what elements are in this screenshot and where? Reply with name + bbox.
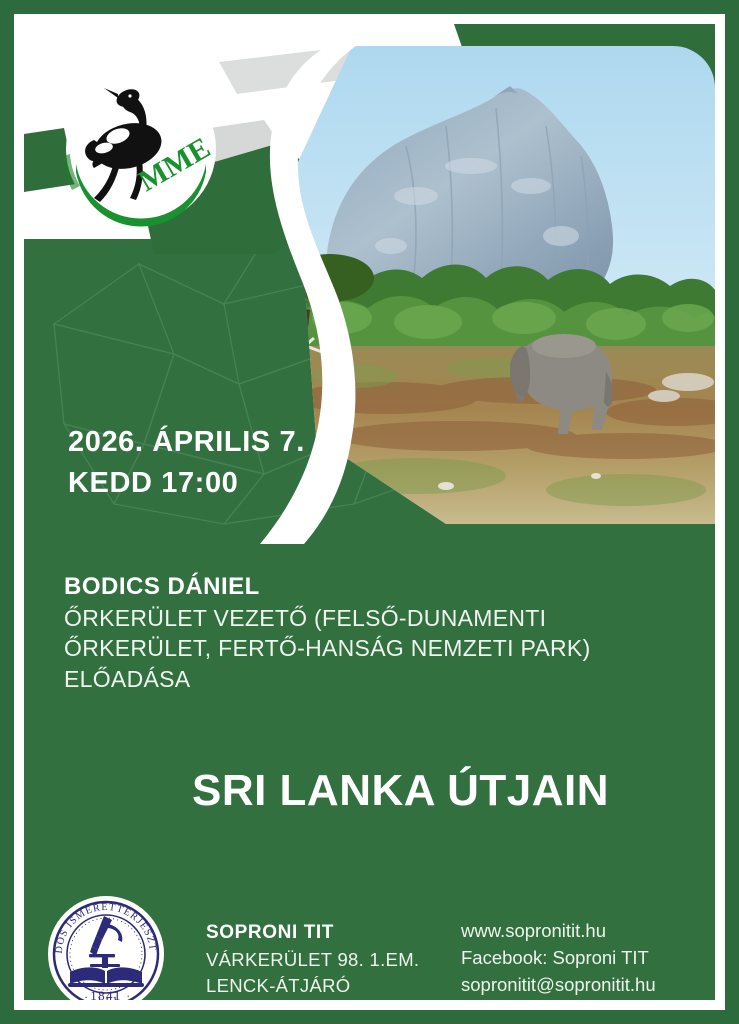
speaker-role-line3: ELŐADÁSA — [64, 664, 715, 695]
event-date-line1: 2026. ÁPRILIS 7. — [68, 422, 305, 463]
speaker-role-line1: ŐRKERÜLET VEZETŐ (FELSŐ-DUNAMENTI — [64, 603, 715, 634]
speaker-role: ŐRKERÜLET VEZETŐ (FELSŐ-DUNAMENTI ŐRKERÜ… — [64, 603, 715, 695]
tit-year: 1841 — [90, 988, 122, 1000]
email-link[interactable]: sopronitit@sopronitit.hu — [461, 972, 656, 999]
event-date-line2: KEDD 17:00 — [68, 463, 305, 504]
contact-info: www.sopronitit.hu Facebook: Soproni TIT … — [461, 918, 656, 998]
website-link[interactable]: www.sopronitit.hu — [461, 918, 656, 945]
speaker-info: BODICS DÁNIEL ŐRKERÜLET VEZETŐ (FELSŐ-DU… — [64, 571, 715, 695]
tit-seal-logo: SOPRONI TUDÓS ISMERETTERJESZTŐ TÁRSULAT … — [46, 894, 166, 1000]
event-title: SRI LANKA ÚTJAIN — [24, 766, 715, 816]
speaker-name: BODICS DÁNIEL — [64, 571, 715, 603]
mme-logo: MME — [60, 68, 222, 230]
facebook-link[interactable]: Facebook: Soproni TIT — [461, 945, 656, 972]
event-poster: MME 2026. ÁPRILIS 7. KEDD 17:00 BODICS D… — [0, 0, 739, 1024]
poster-footer: SOPRONI TUDÓS ISMERETTERJESZTŐ TÁRSULAT … — [24, 906, 715, 1000]
address-line2: LENCK-ÁTJÁRÓ — [206, 973, 419, 999]
poster-canvas: MME 2026. ÁPRILIS 7. KEDD 17:00 BODICS D… — [24, 24, 715, 1000]
organization-name: SOPRONI TIT — [206, 920, 419, 947]
speaker-role-line2: ŐRKERÜLET, FERTŐ-HANSÁG NEMZETI PARK) — [64, 633, 715, 664]
organization-address: SOPRONI TIT VÁRKERÜLET 98. 1.EM. LENCK-Á… — [206, 920, 419, 1000]
event-photo — [296, 46, 715, 524]
address-line1: VÁRKERÜLET 98. 1.EM. — [206, 947, 419, 973]
event-date: 2026. ÁPRILIS 7. KEDD 17:00 — [68, 422, 305, 504]
